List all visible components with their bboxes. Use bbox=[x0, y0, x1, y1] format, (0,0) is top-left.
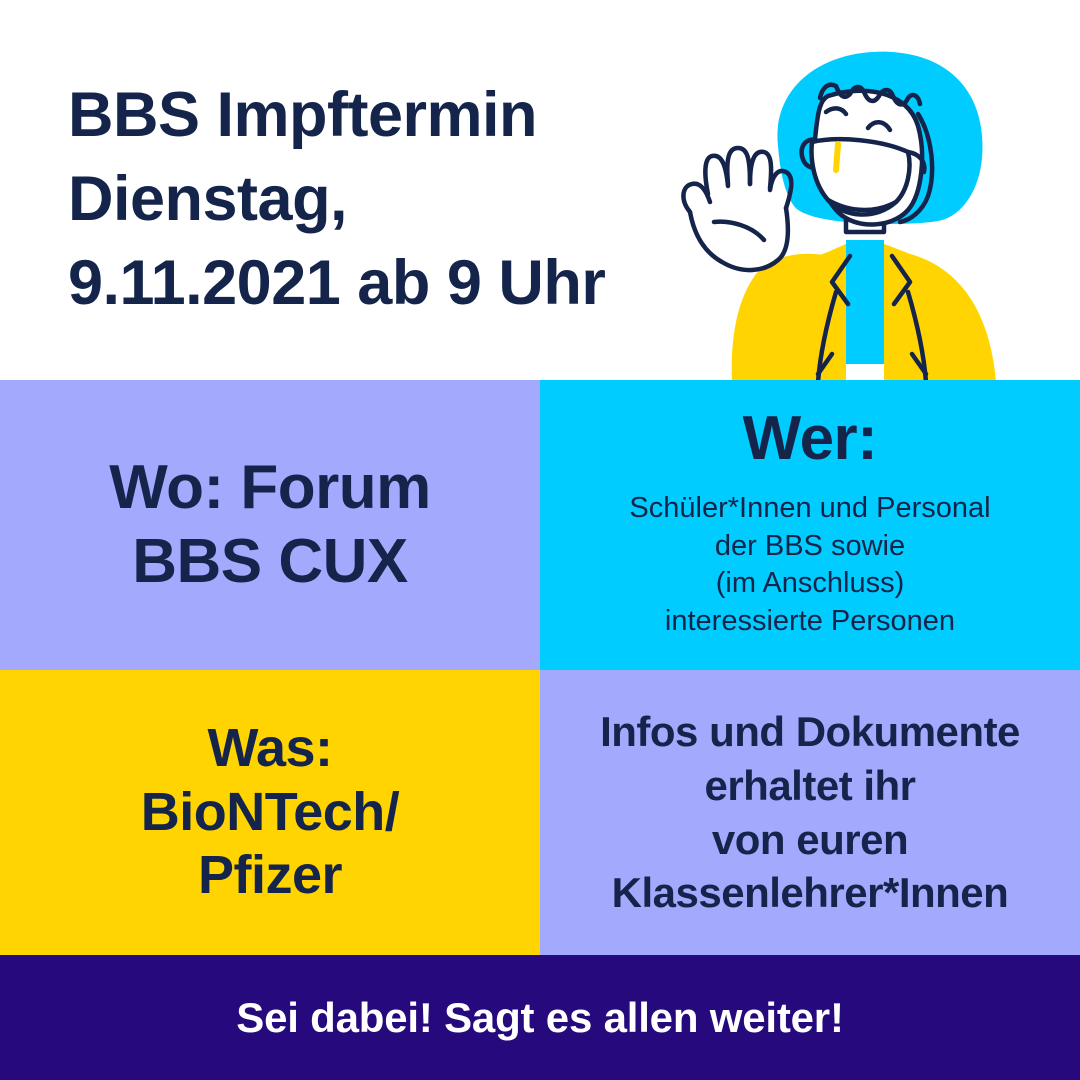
panel-wo: Wo: Forum BBS CUX bbox=[0, 380, 540, 670]
panel-was: Was: BioNTech/ Pfizer bbox=[0, 670, 540, 955]
shirt-shape bbox=[846, 240, 884, 364]
panel-infos: Infos und Dokumente erhaltet ihr von eur… bbox=[540, 670, 1080, 955]
poster-canvas: BBS Impftermin Dienstag, 9.11.2021 ab 9 … bbox=[0, 0, 1080, 1080]
header-zone: BBS Impftermin Dienstag, 9.11.2021 ab 9 … bbox=[0, 0, 1080, 380]
panel-infos-heading: Infos und Dokumente erhaltet ihr von eur… bbox=[600, 705, 1020, 920]
panel-wer-heading: Wer: bbox=[743, 402, 878, 476]
mask-accent-stripe bbox=[836, 144, 838, 170]
panel-was-heading: Was: BioNTech/ Pfizer bbox=[141, 717, 400, 908]
jacket-right-panel bbox=[884, 244, 996, 382]
panel-wer-body: Schüler*Innen und Personal der BBS sowie… bbox=[629, 490, 990, 640]
waving-hand-icon bbox=[683, 148, 791, 270]
info-panels: Wo: Forum BBS CUX Wer: Schüler*Innen und… bbox=[0, 380, 1080, 955]
masked-person-illustration bbox=[660, 44, 1080, 382]
page-title: BBS Impftermin Dienstag, 9.11.2021 ab 9 … bbox=[68, 74, 708, 325]
call-to-action-banner: Sei dabei! Sagt es allen weiter! bbox=[0, 955, 1080, 1080]
call-to-action-text: Sei dabei! Sagt es allen weiter! bbox=[236, 994, 843, 1042]
panel-wer: Wer: Schüler*Innen und Personal der BBS … bbox=[540, 380, 1080, 670]
panel-wo-heading: Wo: Forum BBS CUX bbox=[109, 451, 431, 600]
